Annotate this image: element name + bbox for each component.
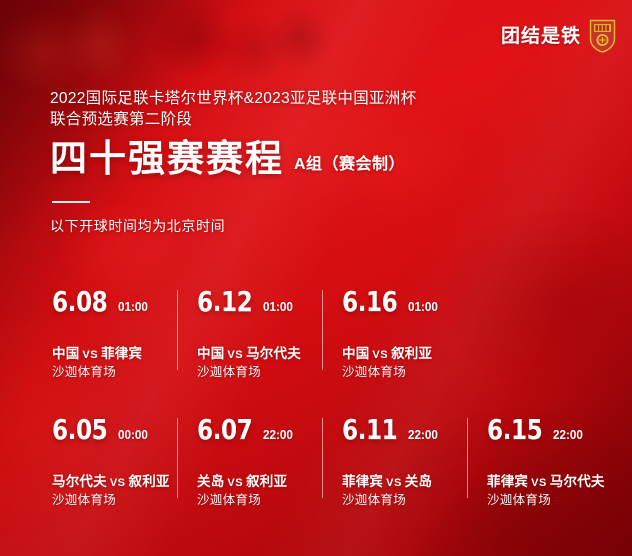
match-away-team: 关岛 <box>405 474 432 489</box>
match-time: 22:00 <box>553 428 583 441</box>
match-vs-label: VS <box>224 477 246 489</box>
match-venue: 沙迦体育场 <box>342 489 406 508</box>
match-venue: 沙迦体育场 <box>487 489 551 508</box>
match-time: 22:00 <box>408 428 438 441</box>
match-date: 6.07 <box>197 416 252 444</box>
match-card-divider <box>177 418 178 498</box>
schedule-row: 6.0801:00中国VS菲律宾沙迦体育场6.1201:00中国VS马尔代夫沙迦… <box>44 288 622 384</box>
match-away-team: 叙利亚 <box>391 346 432 361</box>
match-home-team: 菲律宾 <box>342 474 383 489</box>
schedule-grid: 6.0801:00中国VS菲律宾沙迦体育场6.1201:00中国VS马尔代夫沙迦… <box>44 288 622 512</box>
match-card-divider <box>467 418 468 498</box>
match-venue: 沙迦体育场 <box>52 489 116 508</box>
match-venue: 沙迦体育场 <box>52 361 116 380</box>
match-card[interactable]: 6.0801:00中国VS菲律宾沙迦体育场 <box>44 288 189 384</box>
page-title: 四十强赛赛程 A组（赛会制） <box>50 140 405 177</box>
brand-slogan: 团结是铁 <box>501 27 581 46</box>
match-away-team: 叙利亚 <box>129 474 170 489</box>
match-home-team: 菲律宾 <box>487 474 528 489</box>
match-date: 6.05 <box>52 416 107 444</box>
match-home-team: 关岛 <box>197 474 224 489</box>
match-vs-label: VS <box>107 477 129 489</box>
match-teams: 菲律宾VS马尔代夫 <box>487 470 605 490</box>
match-home-team: 中国 <box>342 346 369 361</box>
match-datetime: 6.0500:00 <box>52 416 189 450</box>
page-title-group: A组（赛会制） <box>294 150 405 174</box>
match-datetime: 6.1201:00 <box>197 288 334 322</box>
match-venue: 沙迦体育场 <box>342 361 406 380</box>
match-date: 6.11 <box>342 416 397 444</box>
match-datetime: 6.0801:00 <box>52 288 189 322</box>
match-home-team: 中国 <box>52 346 79 361</box>
brand-lockup: 团结是铁 <box>501 19 616 53</box>
match-date: 6.12 <box>197 288 252 316</box>
match-card[interactable]: 6.0722:00关岛VS叙利亚沙迦体育场 <box>189 416 334 512</box>
page-title-main: 四十强赛赛程 <box>50 140 284 177</box>
match-card-divider <box>322 290 323 370</box>
match-vs-label: VS <box>383 477 405 489</box>
match-away-team: 马尔代夫 <box>246 346 301 361</box>
match-vs-label: VS <box>369 349 391 361</box>
match-card[interactable]: 6.0500:00马尔代夫VS叙利亚沙迦体育场 <box>44 416 189 512</box>
match-venue: 沙迦体育场 <box>197 361 261 380</box>
schedule-row: 6.0500:00马尔代夫VS叙利亚沙迦体育场6.0722:00关岛VS叙利亚沙… <box>44 416 622 512</box>
match-datetime: 6.1122:00 <box>342 416 479 450</box>
match-vs-label: VS <box>528 477 550 489</box>
match-venue: 沙迦体育场 <box>197 489 261 508</box>
match-date: 6.15 <box>487 416 542 444</box>
match-time: 01:00 <box>263 300 293 313</box>
match-card-divider <box>177 290 178 370</box>
match-datetime: 6.0722:00 <box>197 416 334 450</box>
match-card[interactable]: 6.1522:00菲律宾VS马尔代夫沙迦体育场 <box>479 416 624 512</box>
match-teams: 中国VS叙利亚 <box>342 342 432 362</box>
timezone-note: 以下开球时间均为北京时间 <box>50 216 225 236</box>
match-time: 00:00 <box>118 428 148 441</box>
match-teams: 马尔代夫VS叙利亚 <box>52 470 170 490</box>
match-teams: 菲律宾VS关岛 <box>342 470 432 490</box>
match-card[interactable]: 6.1601:00中国VS叙利亚沙迦体育场 <box>334 288 479 384</box>
event-subtitle: 2022国际足联卡塔尔世界杯&2023亚足联中国亚洲杯 联合预选赛第二阶段 <box>50 88 416 130</box>
match-time: 22:00 <box>263 428 293 441</box>
event-subtitle-line-2: 联合预选赛第二阶段 <box>50 109 416 130</box>
match-vs-label: VS <box>79 349 101 361</box>
poster-content: 团结是铁 2022国际足联卡塔尔世界杯&2023亚足联中国亚洲杯 联合预选赛第二… <box>0 0 632 556</box>
match-vs-label: VS <box>224 349 246 361</box>
match-time: 01:00 <box>408 300 438 313</box>
match-time: 01:00 <box>118 300 148 313</box>
match-home-team: 马尔代夫 <box>52 474 107 489</box>
title-divider <box>52 201 90 203</box>
match-teams: 关岛VS叙利亚 <box>197 470 287 490</box>
match-date: 6.08 <box>52 288 107 316</box>
match-date: 6.16 <box>342 288 397 316</box>
event-subtitle-line-1: 2022国际足联卡塔尔世界杯&2023亚足联中国亚洲杯 <box>50 88 416 109</box>
team-crest-icon <box>589 19 616 53</box>
match-card-divider <box>322 418 323 498</box>
match-away-team: 马尔代夫 <box>550 474 605 489</box>
match-away-team: 叙利亚 <box>246 474 287 489</box>
match-teams: 中国VS菲律宾 <box>52 342 142 362</box>
match-card[interactable]: 6.1122:00菲律宾VS关岛沙迦体育场 <box>334 416 479 512</box>
match-away-team: 菲律宾 <box>101 346 142 361</box>
match-teams: 中国VS马尔代夫 <box>197 342 301 362</box>
poster-root: 团结是铁 2022国际足联卡塔尔世界杯&2023亚足联中国亚洲杯 联合预选赛第二… <box>0 0 632 556</box>
match-datetime: 6.1601:00 <box>342 288 479 322</box>
match-home-team: 中国 <box>197 346 224 361</box>
match-datetime: 6.1522:00 <box>487 416 624 450</box>
match-card[interactable]: 6.1201:00中国VS马尔代夫沙迦体育场 <box>189 288 334 384</box>
